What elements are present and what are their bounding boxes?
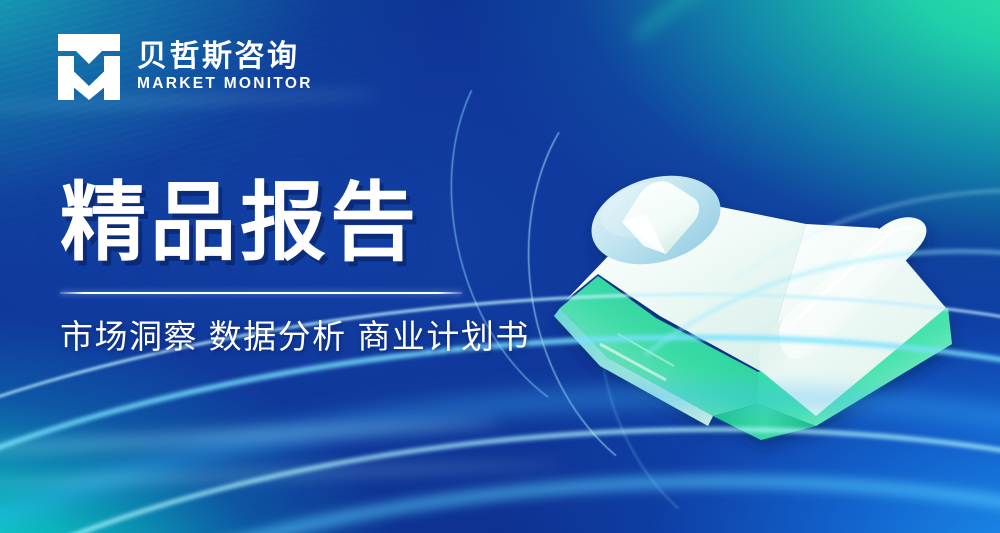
report-cover-banner: 贝哲斯咨询 MARKET MONITOR 精品报告 市场洞察 数据分析 商业计划… bbox=[0, 0, 1000, 533]
title-divider bbox=[60, 292, 462, 294]
brand-name-en: MARKET MONITOR bbox=[137, 76, 313, 92]
open-book-3d-illustration bbox=[548, 158, 968, 458]
m-monogram-icon bbox=[58, 34, 120, 100]
page-title: 精品报告 bbox=[60, 178, 530, 268]
haze-streak-lower-left-2 bbox=[0, 459, 560, 491]
blue-light-streak-soft bbox=[0, 445, 1000, 533]
haze-streak-lower-left-1 bbox=[0, 415, 500, 458]
brand-logo-lockup[interactable]: 贝哲斯咨询 MARKET MONITOR bbox=[58, 34, 313, 100]
brand-name-block: 贝哲斯咨询 MARKET MONITOR bbox=[137, 42, 313, 92]
page-subtitle: 市场洞察 数据分析 商业计划书 bbox=[60, 319, 530, 355]
headline-block: 精品报告 市场洞察 数据分析 商业计划书 bbox=[60, 178, 530, 356]
brand-name-cn: 贝哲斯咨询 bbox=[137, 42, 313, 72]
